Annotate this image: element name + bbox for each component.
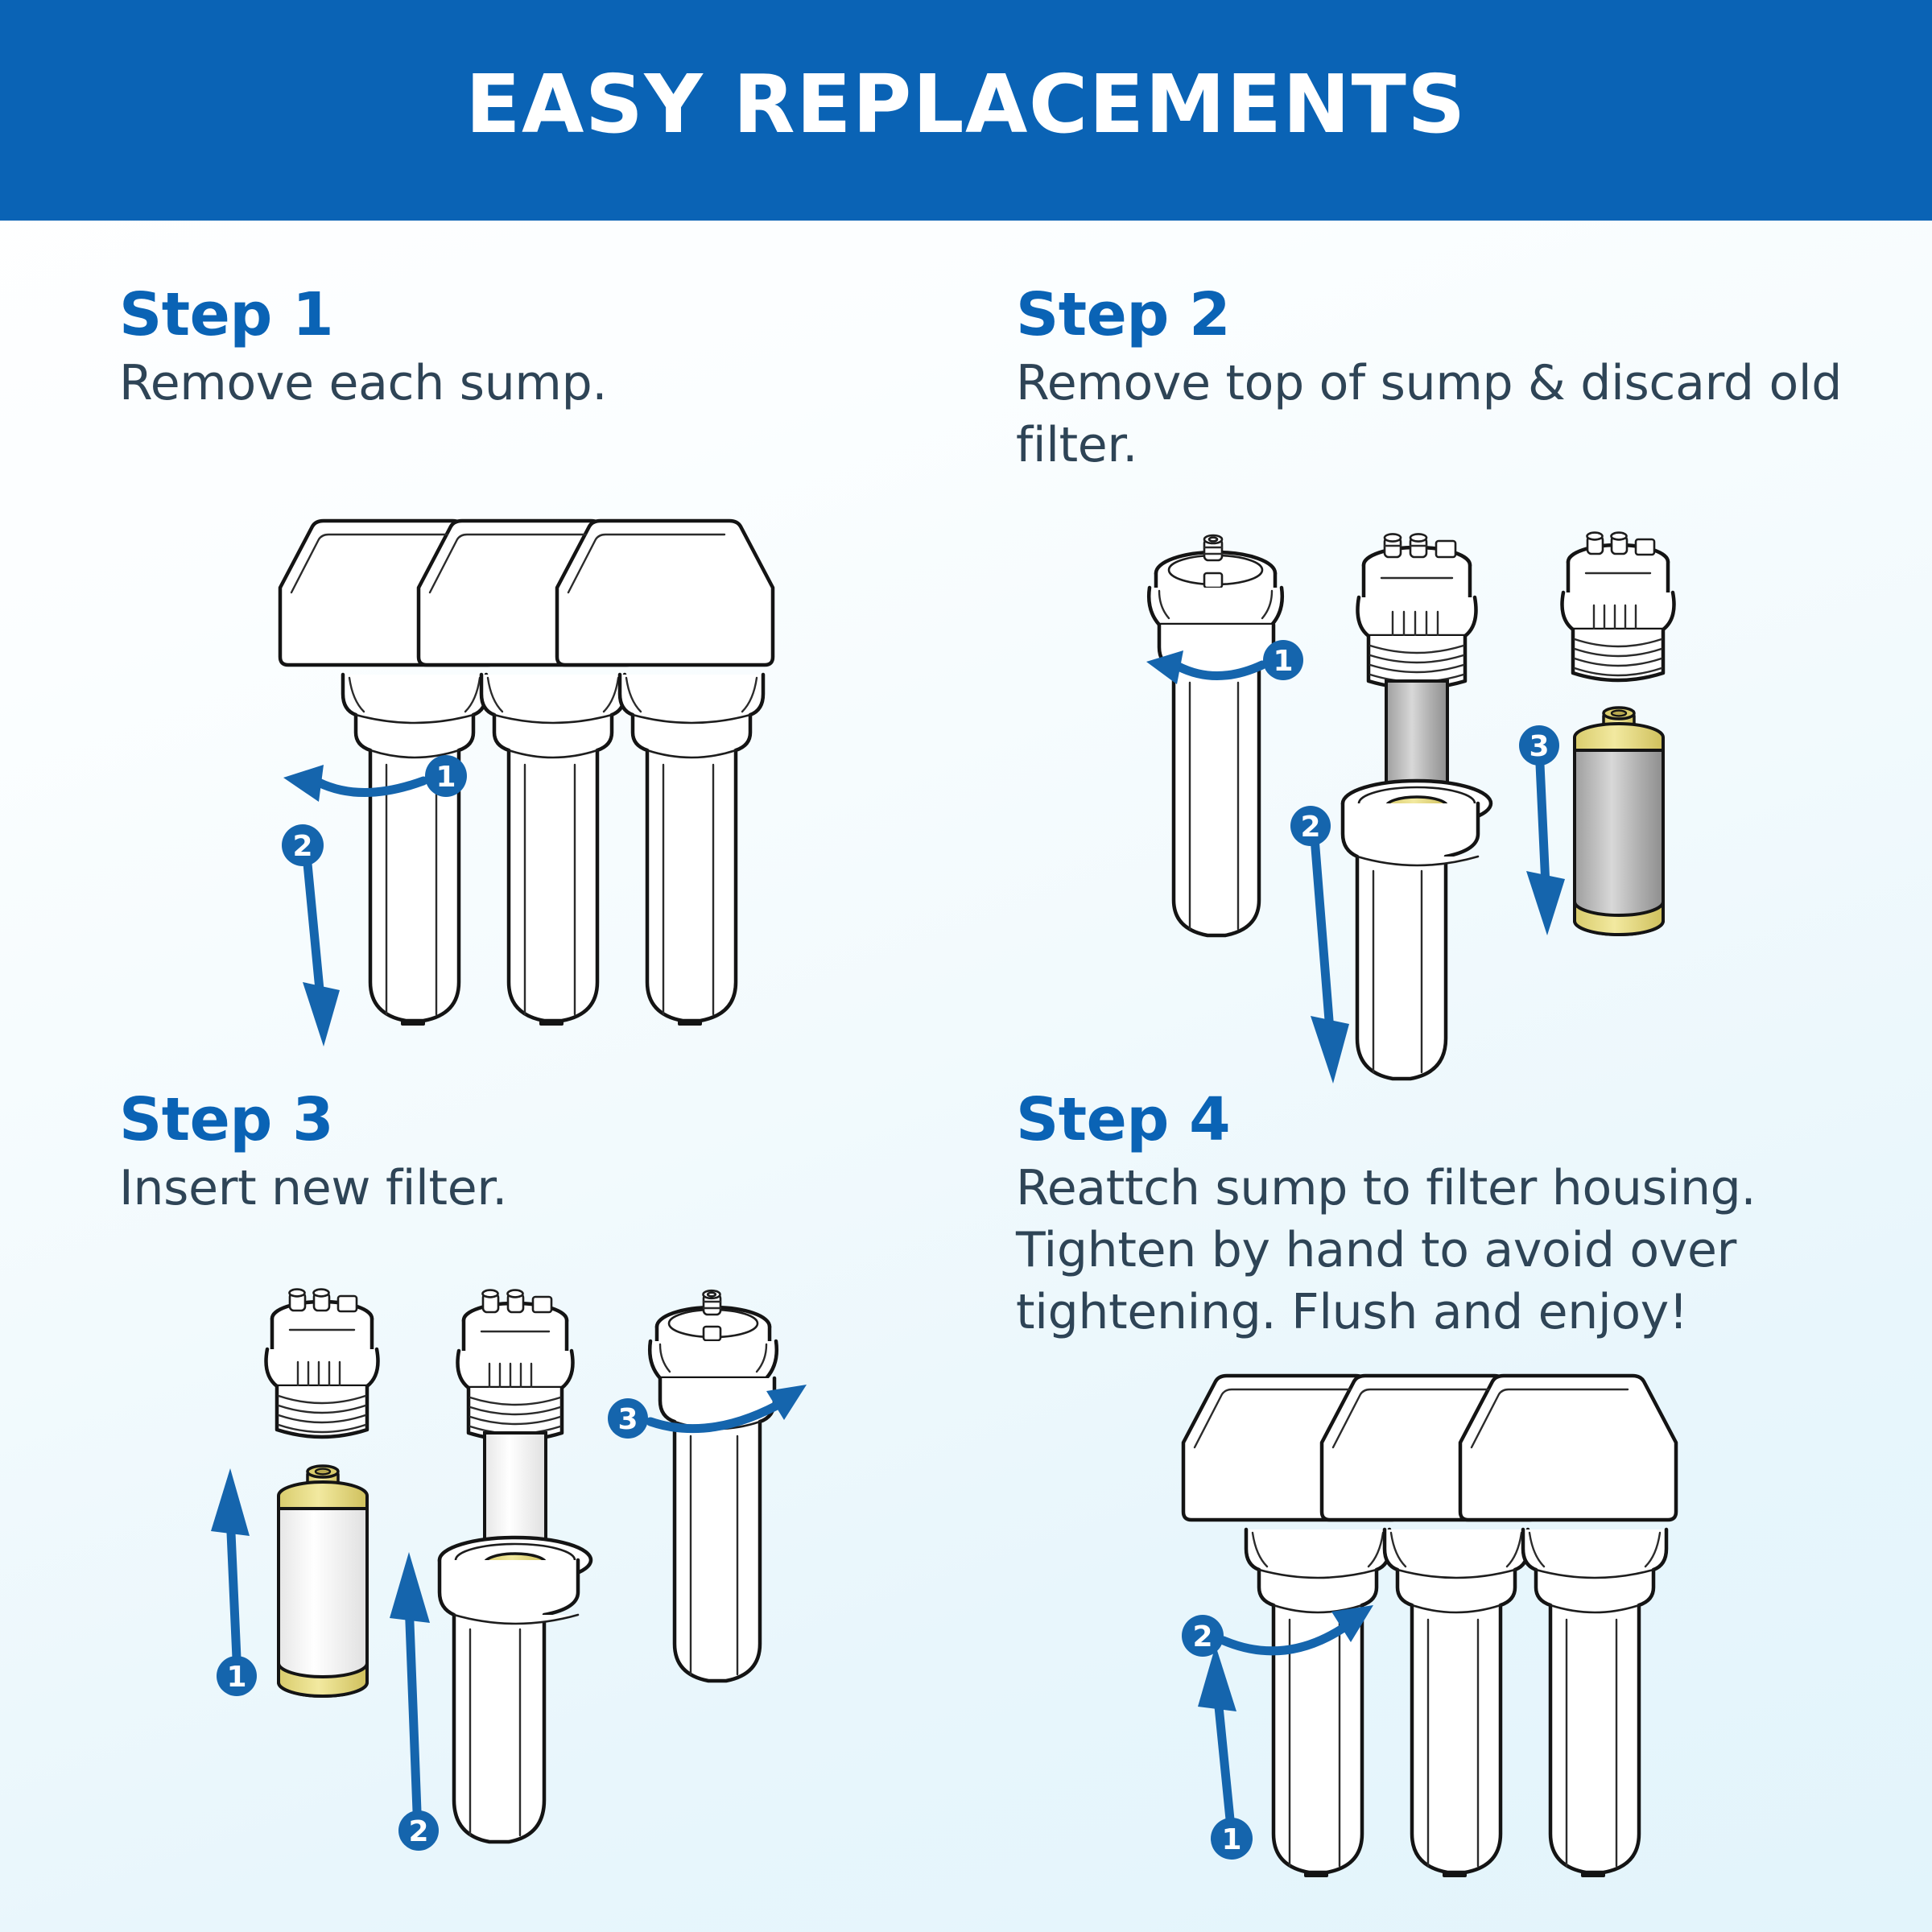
callout-badge-label: 1 (1221, 1823, 1241, 1856)
sump-canister-1 (1246, 1529, 1389, 1877)
detached-cap (1563, 533, 1674, 680)
port-fittings (704, 1290, 721, 1315)
page-title: EASY REPLACEMENTS (0, 0, 1932, 221)
logo-plate (704, 1327, 720, 1340)
sump-separated (1343, 534, 1491, 1079)
logo-plate (1436, 541, 1455, 557)
step-2-description: Remove top of sump & discard old filter. (1016, 353, 1869, 477)
old-filter-cartridge (1575, 708, 1663, 935)
callout-badge-label: 2 (408, 1815, 428, 1848)
sump-canister-2 (1385, 1529, 1528, 1877)
logo-plate (1636, 539, 1654, 555)
step-1-title: Step 1 (119, 283, 607, 346)
step-3-illustration: 1 (201, 1280, 813, 1892)
step-1-block: Step 1 Remove each sump. (119, 283, 607, 415)
step-3-description: Insert new filter. (119, 1158, 507, 1220)
callout-3-down-arrow: 3 (1519, 725, 1565, 935)
callout-1-up-arrow: 1 (211, 1468, 257, 1696)
step-4-illustration: 2 1 (1167, 1352, 1731, 1916)
filter-system-manifold (280, 521, 773, 665)
callout-badge-label: 2 (1192, 1620, 1212, 1653)
callout-badge-label: 3 (1529, 730, 1549, 763)
sump-canister-2 (481, 675, 625, 1026)
step-3-block: Step 3 Insert new filter. (119, 1088, 507, 1220)
callout-badge-label: 2 (1300, 811, 1320, 844)
logo-plate (1204, 573, 1222, 588)
sump-insert-cartridge (440, 1290, 591, 1842)
callout-badge-label: 2 (292, 830, 312, 863)
callout-2-down-arrow: 2 (282, 824, 340, 1046)
step-3-title: Step 3 (119, 1088, 507, 1151)
port-fittings (1204, 535, 1222, 560)
step-2-illustration: 1 (1127, 523, 1723, 1103)
callout-2-down-arrow: 2 (1290, 806, 1349, 1084)
sump-canister-3 (1523, 1529, 1666, 1877)
callout-badge-label: 1 (1273, 645, 1293, 678)
step-1-description: Remove each sump. (119, 353, 607, 415)
step-4-title: Step 4 (1016, 1088, 1869, 1151)
callout-2-up-arrow: 2 (390, 1552, 439, 1851)
new-filter-cartridge (279, 1466, 367, 1696)
callout-badge-label: 3 (617, 1403, 638, 1436)
step-1-illustration: 1 2 (266, 499, 797, 1046)
logo-plate (533, 1297, 551, 1312)
logo-plate (338, 1296, 357, 1311)
step-4-block: Step 4 Reattch sump to filter housing. T… (1016, 1088, 1869, 1344)
infographic-page: EASY REPLACEMENTS Step 1 Remove each sum… (0, 0, 1932, 1932)
step-4-description: Reattch sump to filter housing. Tighten … (1016, 1158, 1869, 1343)
sump-assembly-unscrew (1149, 535, 1282, 935)
callout-badge-label: 1 (436, 761, 456, 794)
filter-system-manifold (1183, 1376, 1676, 1520)
step-2-block: Step 2 Remove top of sump & discard old … (1016, 283, 1869, 477)
sump-reassembled (650, 1290, 777, 1681)
step-2-title: Step 2 (1016, 283, 1869, 346)
sump-canister-3 (620, 675, 763, 1026)
detached-cap (266, 1290, 378, 1437)
callout-badge-label: 1 (226, 1661, 246, 1694)
callout-1-up-arrow: 1 (1198, 1645, 1253, 1860)
sump-canister-1 (343, 675, 486, 1026)
